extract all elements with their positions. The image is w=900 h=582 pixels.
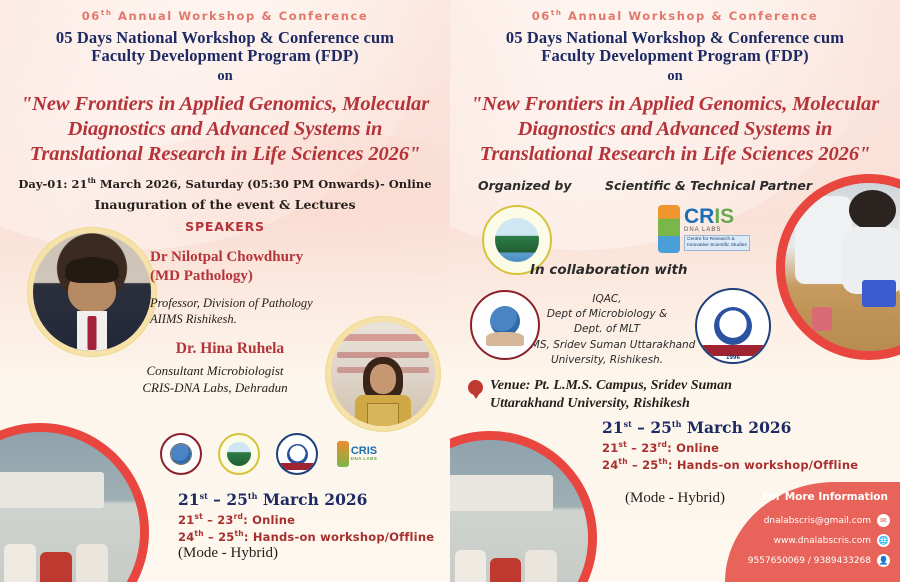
collab-line-2: Dept of Microbiology & xyxy=(512,307,702,322)
event-subtitle: 05 Days National Workshop & Conference c… xyxy=(14,29,436,66)
collab-logo-seema-dental xyxy=(470,290,540,360)
collab-line-3: Dept. of MLT xyxy=(512,322,702,337)
left-mode-label: (Mode - Hybrid) xyxy=(178,545,434,562)
speaker-1-name-line-2: (MD Pathology) xyxy=(150,267,380,286)
right-mode-label: (Mode - Hybrid) xyxy=(625,490,725,507)
speakers-heading: SPEAKERS xyxy=(14,219,436,234)
speaker-2-desc-line-1: Consultant Microbiologist xyxy=(80,362,350,379)
poster-title: "New Frontiers in Applied Genomics, Mole… xyxy=(14,92,436,167)
subtitle-line-1: 05 Days National Workshop & Conference c… xyxy=(464,29,886,47)
microbiologists-society-logo xyxy=(276,433,318,475)
globe-icon: 🌐 xyxy=(877,534,890,547)
right-date-offline: 24th – 25th: Hands-on workshop/Offline xyxy=(602,457,858,474)
contact-email-row[interactable]: dnalabscris@gmail.com ✉ xyxy=(725,514,890,527)
event-subtitle: 05 Days National Workshop & Conference c… xyxy=(464,29,886,66)
left-dates-block: 21st – 25th March 2026 21st – 23rd: Onli… xyxy=(178,490,434,562)
venue-line-2: Uttarakhand University, Rishikesh xyxy=(490,395,890,413)
lab-hands-on-photo xyxy=(785,183,900,351)
venue-text: Venue: Pt. L.M.S. Campus, Sridev Suman U… xyxy=(490,377,890,413)
speaker-1-affiliation: Professor, Division of Pathology AIIMS R… xyxy=(150,295,400,328)
speaker-2-name: Dr. Hina Ruhela xyxy=(110,340,350,358)
right-date-online: 21st – 23rd: Online xyxy=(602,440,858,457)
on-connector: on xyxy=(14,68,436,85)
poster-panel-left: 06th Annual Workshop & Conference 05 Day… xyxy=(0,0,450,582)
scientific-partner-label: Scientific & Technical Partner xyxy=(605,178,812,193)
speaker-1-desc-line-2: AIIMS Rishikesh. xyxy=(150,311,400,327)
title-line-1: "New Frontiers in Applied Genomics, Mole… xyxy=(464,92,886,117)
day-one-schedule: Day-01: 21th March 2026, Saturday (05:30… xyxy=(14,176,436,191)
collaboration-label: In collaboration with xyxy=(530,262,688,278)
left-date-online: 21st – 23rd: Online xyxy=(178,512,434,529)
subtitle-line-2: Faculty Development Program (FDP) xyxy=(464,47,886,65)
students-group-photo-left xyxy=(0,432,140,582)
contact-website-row[interactable]: www.dnalabscris.com 🌐 xyxy=(725,534,890,547)
partner-logo: CRIS DNA LABS Centre for Research &Innov… xyxy=(658,198,760,260)
poster-panel-right: 06th Annual Workshop & Conference 05 Day… xyxy=(450,0,900,582)
contact-website: www.dnalabscris.com xyxy=(774,536,871,546)
venue-line-1: Venue: Pt. L.M.S. Campus, Sridev Suman xyxy=(490,377,890,395)
collab-logo-microbiologists-society: 1996 xyxy=(695,288,771,364)
right-date-range: 21st – 25th March 2026 xyxy=(602,418,858,437)
students-group-photo-right xyxy=(450,440,588,582)
speaker-1-desc-line-1: Professor, Division of Pathology xyxy=(150,295,400,311)
subtitle-line-2: Faculty Development Program (FDP) xyxy=(14,47,436,65)
contact-phone-row[interactable]: 9557650069 / 9389433268 👤 xyxy=(725,554,890,567)
annual-kicker: 06th Annual Workshop & Conference xyxy=(464,9,886,23)
title-line-3: Translational Research in Life Sciences … xyxy=(464,142,886,167)
inauguration-note: Inauguration of the event & Lectures xyxy=(14,197,436,212)
speaker-2-desc-line-2: CRIS-DNA Labs, Dehradun xyxy=(80,379,350,396)
annual-kicker: 06th Annual Workshop & Conference xyxy=(14,9,436,23)
speaker-1-name-line-1: Dr Nilotpal Chowdhury xyxy=(150,248,380,267)
collab-line-4: PLMS, Sridev Suman Uttarakhand xyxy=(512,338,702,353)
sridev-suman-university-logo xyxy=(218,433,260,475)
collab-line-1: IQAC, xyxy=(512,292,702,307)
right-header: 06th Annual Workshop & Conference 05 Day… xyxy=(450,9,900,167)
person-icon: 👤 xyxy=(877,554,890,567)
contact-email: dnalabscris@gmail.com xyxy=(764,516,871,526)
title-line-2: Diagnostics and Advanced Systems in xyxy=(464,117,886,142)
title-line-3: Translational Research in Life Sciences … xyxy=(14,142,436,167)
collab-line-5: University, Rishikesh. xyxy=(512,353,702,368)
right-dates-block: 21st – 25th March 2026 21st – 23rd: Onli… xyxy=(602,418,858,473)
left-logo-row: CRISDNA LABS xyxy=(160,433,380,475)
poster-title: "New Frontiers in Applied Genomics, Mole… xyxy=(464,92,886,167)
speaker-2-affiliation: Consultant Microbiologist CRIS-DNA Labs,… xyxy=(80,362,350,396)
location-pin-icon xyxy=(468,380,483,401)
seema-dental-college-logo xyxy=(160,433,202,475)
contact-phone: 9557650069 / 9389433268 xyxy=(748,556,871,566)
subtitle-line-1: 05 Days National Workshop & Conference c… xyxy=(14,29,436,47)
collaboration-details: IQAC, Dept of Microbiology & Dept. of ML… xyxy=(512,292,702,368)
title-line-1: "New Frontiers in Applied Genomics, Mole… xyxy=(14,92,436,117)
contact-heading: For More Information xyxy=(762,491,888,503)
left-date-range: 21st – 25th March 2026 xyxy=(178,490,434,509)
speaker-1-name: Dr Nilotpal Chowdhury (MD Pathology) xyxy=(150,248,380,286)
organized-by-label: Organized by xyxy=(478,178,572,193)
title-line-2: Diagnostics and Advanced Systems in xyxy=(14,117,436,142)
left-header: 06th Annual Workshop & Conference 05 Day… xyxy=(0,9,450,234)
cris-dna-labs-logo: CRISDNA LABS xyxy=(334,437,380,471)
left-date-offline: 24th – 25th: Hands-on workshop/Offline xyxy=(178,529,434,546)
envelope-icon: ✉ xyxy=(877,514,890,527)
speaker-photo-1 xyxy=(33,233,151,351)
contact-panel: For More Information dnalabscris@gmail.c… xyxy=(725,482,900,582)
conference-poster: 06th Annual Workshop & Conference 05 Day… xyxy=(0,0,900,582)
on-connector: on xyxy=(464,68,886,85)
